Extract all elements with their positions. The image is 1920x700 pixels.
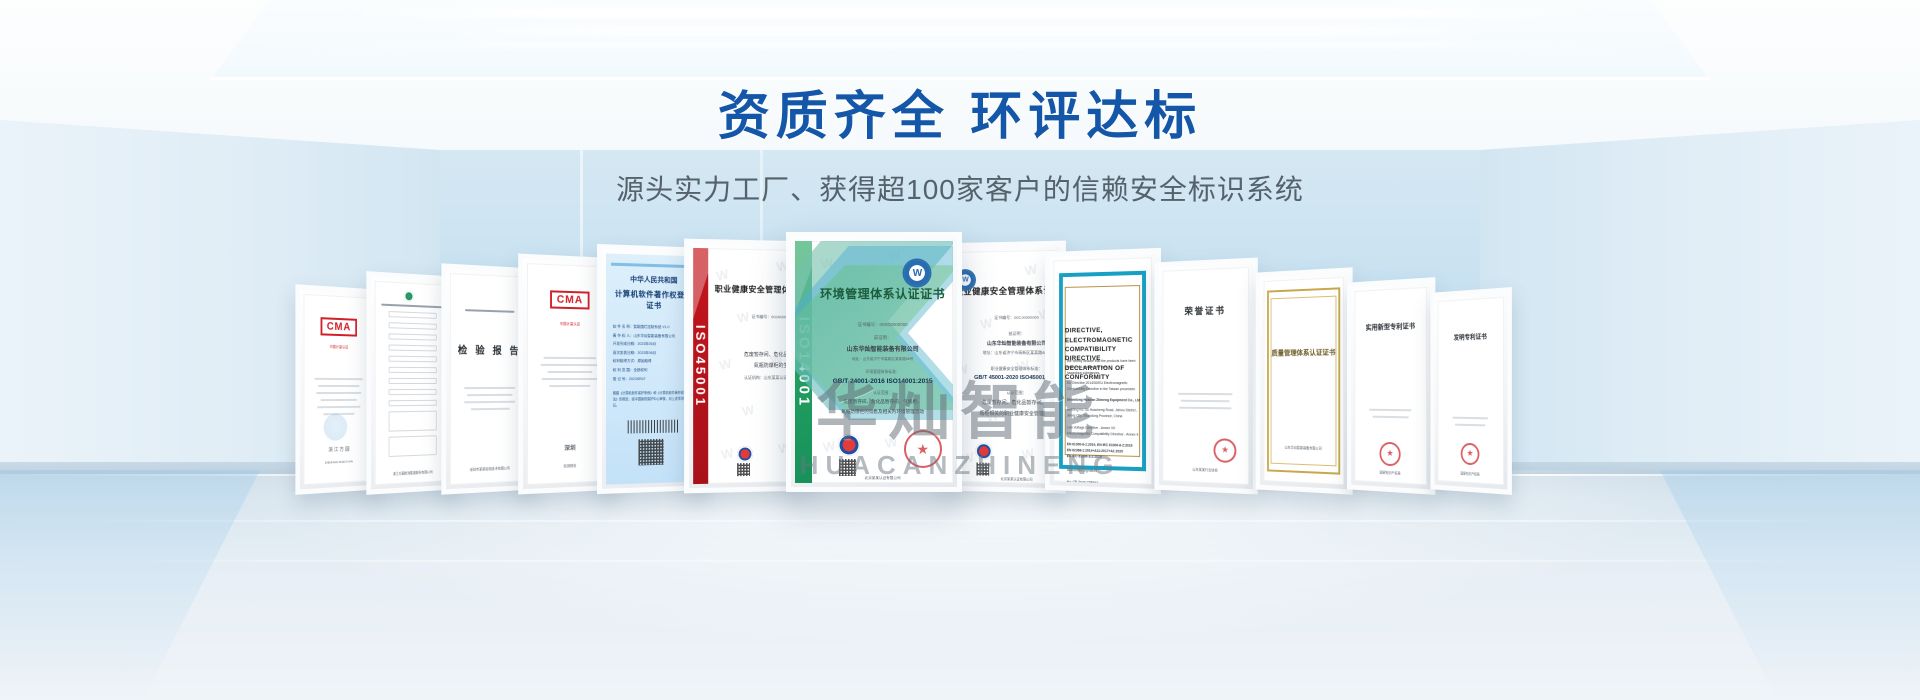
standard-value: GB/T 24001-2016 ISO14001:2015 xyxy=(820,378,945,385)
company-name: 山东华灿智能装备有限公司 xyxy=(955,339,1057,347)
certificate-title: 环境管理体系认证证书 xyxy=(820,285,945,302)
certificate-footer: 深圳市某某检测技术有限公司 xyxy=(450,464,529,472)
qr-code xyxy=(839,459,856,476)
ce-address-2: Jining City, Shandong Province, China xyxy=(1067,413,1142,420)
certificate-number: 证书编号：00CJ0000000 xyxy=(955,314,1057,321)
certificate-issuer: 北京某某认证有限公司 xyxy=(812,476,953,481)
barcode xyxy=(627,419,680,433)
ce-body-4: Compatibility Directive in the Taiwan pr… xyxy=(1067,386,1142,393)
standard-value: GB/T 45001-2020 ISO45001:2018 xyxy=(955,375,1057,381)
banner-headings: 资质齐全 环评达标 源头实力工厂、获得超100家客户的信赖安全标识系统 xyxy=(0,88,1920,208)
floor-seam xyxy=(0,520,1920,522)
software-field: 软 件 名 称：智能围栏控制系统 V1.0 xyxy=(613,322,694,332)
spine-corner-accent xyxy=(795,241,812,314)
certificate-wall: CMA 中国计量认证 浙 江 方 圆 ZHEJIANG FANGYUAN xyxy=(290,232,1630,492)
ceiling-light-strip xyxy=(250,42,1680,48)
certificate-footer-sub: ZHEJIANG FANGYUAN xyxy=(304,459,373,466)
seal xyxy=(322,412,348,443)
iso-standard-label: ISO45001 xyxy=(693,324,708,407)
certificate-frame-featured[interactable]: ISO14001 WW WW WW WW WW xyxy=(786,232,962,492)
certificate-scope-1: 危废暂存间、危化品暂存间、气瓶柜、 xyxy=(820,399,945,405)
certificates-banner: 资质齐全 环评达标 源头实力工厂、获得超100家客户的信赖安全标识系统 CMA … xyxy=(0,0,1920,700)
official-stamp: ★ xyxy=(904,430,942,468)
certificate-frame[interactable]: 荣誉证书 ★ 山东某某行业协会 xyxy=(1154,258,1257,495)
scope-label: 认证范围： xyxy=(820,391,945,396)
accreditation-logo xyxy=(838,434,860,456)
qr-code xyxy=(977,463,990,476)
ce-company: Shandong Huacan Zhineng Equipment Co., L… xyxy=(1067,397,1142,404)
certificate-title: 检 验 报 告 xyxy=(455,341,524,357)
certificate-frame[interactable]: 实用新型专利证书 ★ 国家知识产权局 xyxy=(1347,277,1435,495)
ce-standard-3: EN IEC 61000-3-2:2019 xyxy=(1067,453,1142,461)
iso-standard-label: ISO14001 xyxy=(795,316,812,408)
ceiling-light-strip xyxy=(330,8,1610,18)
ce-body-1: We hereby declare that the products have… xyxy=(1067,357,1142,369)
standard-label: 环境管理体系标准： xyxy=(820,370,945,375)
software-field: 首次发表日期：2023年06月 xyxy=(613,349,694,358)
qr-code xyxy=(737,463,750,476)
accreditation-logo xyxy=(737,446,753,462)
software-field: 登 记 号：2023SR07 xyxy=(613,375,694,384)
certificate-title-line1: 中华人民共和国 xyxy=(613,274,694,286)
spine-corner-accent xyxy=(693,248,708,319)
certificate-footer: 国家知识产权局 xyxy=(1355,468,1427,477)
cma-caption: 中国计量认证 xyxy=(560,321,580,326)
cma-badge: CMA xyxy=(550,290,590,309)
company-label: 兹证明： xyxy=(955,330,1057,337)
certificate-title: 荣誉证书 xyxy=(1168,303,1244,318)
ce-body-2: hazardous substances. xyxy=(1067,370,1142,376)
ornate-border-inner xyxy=(1271,296,1337,466)
certificate-frame[interactable]: 发明专利证书 ★ 国家知识产权局 xyxy=(1430,287,1511,495)
accreditation-logo xyxy=(975,442,992,459)
certification-emblem: W xyxy=(904,260,930,286)
page-subtitle: 源头实力工厂、获得超100家客户的信赖安全标识系统 xyxy=(0,168,1920,208)
company-address: 地址：山东省济宁市高新区某某路88号 xyxy=(955,349,1057,355)
certificate-footer: 山东某某行业协会 xyxy=(1163,466,1249,474)
iso-spine: ISO14001 xyxy=(795,241,812,483)
software-field: 权 利 范 围：全部权利 xyxy=(613,366,694,375)
ce-document-number: No. CE-2024-C06442 xyxy=(1067,479,1142,485)
certificate-issuer: 北京某某认证有限公司 xyxy=(948,475,1057,483)
qr-code xyxy=(639,439,664,466)
ce-annex-2: Electromagnetic Compatibility Directive … xyxy=(1067,430,1142,438)
software-footer-note: 根据《计算机软件保护条例》和《计算机软件著作权登记办法》的规定，经中国版权保护中… xyxy=(613,391,694,409)
certificate-title-line2: 计算机软件著作权登记证书 xyxy=(613,288,694,312)
certificate-title: 质量管理体系认证证书 xyxy=(1264,348,1344,359)
official-stamp: ★ xyxy=(1379,441,1400,466)
software-field: 权利取得方式：原始取得 xyxy=(613,357,694,366)
official-stamp: ★ xyxy=(1461,442,1480,465)
standard-label: 职业健康安全管理体系标准： xyxy=(955,366,1057,372)
certificate-frame[interactable]: 质量管理体系认证证书 山东华灿智能装备有限公司 xyxy=(1256,267,1353,494)
certificate-footer: 浙江方圆检测集团股份有限公司 xyxy=(375,468,450,477)
ce-signature-label: Authorised Signature xyxy=(1067,467,1142,475)
certificate-title: 实用新型专利证书 xyxy=(1359,320,1423,332)
company-name: 山东华灿智能装备有限公司 xyxy=(820,344,945,353)
certificate-scope-2: 瓶柜相关的职业健康安全管理活动 xyxy=(955,409,1057,417)
floor-seam xyxy=(0,560,1920,562)
official-stamp: ★ xyxy=(1214,438,1237,463)
scope-label: 认证范围： xyxy=(955,389,1057,396)
certificate-footer: 国家知识产权局 xyxy=(1438,469,1504,478)
company-address: 地址：山东省济宁市高新区某某路88号 xyxy=(820,357,945,362)
certificate-frame[interactable]: DIRECTIVE, ELECTROMAGNETIC COMPATIBILITY… xyxy=(1045,248,1161,494)
certificate-footer: 浙 江 方 圆 xyxy=(304,445,373,455)
company-label: 兹证明： xyxy=(820,335,945,341)
page-title: 资质齐全 环评达标 xyxy=(0,88,1920,146)
ceiling-light-strip xyxy=(420,26,1520,36)
cma-caption: 中国计量认证 xyxy=(330,344,349,350)
software-field: 开发完成日期：2023年05月 xyxy=(613,340,694,349)
cma-badge: CMA xyxy=(321,318,357,337)
certificate-title: 发明专利证书 xyxy=(1441,330,1499,342)
seal xyxy=(404,291,414,303)
certificate-scope-2: 氮瓶防爆柜的销售及相关的环境管理活动 xyxy=(820,409,945,415)
certificate-number: 证书编号：00XD0000000 xyxy=(820,322,945,328)
certificate-scope-1: 危废暂存间、危化品暂存间、气 xyxy=(955,398,1057,406)
iso-spine: ISO45001 xyxy=(693,248,708,484)
